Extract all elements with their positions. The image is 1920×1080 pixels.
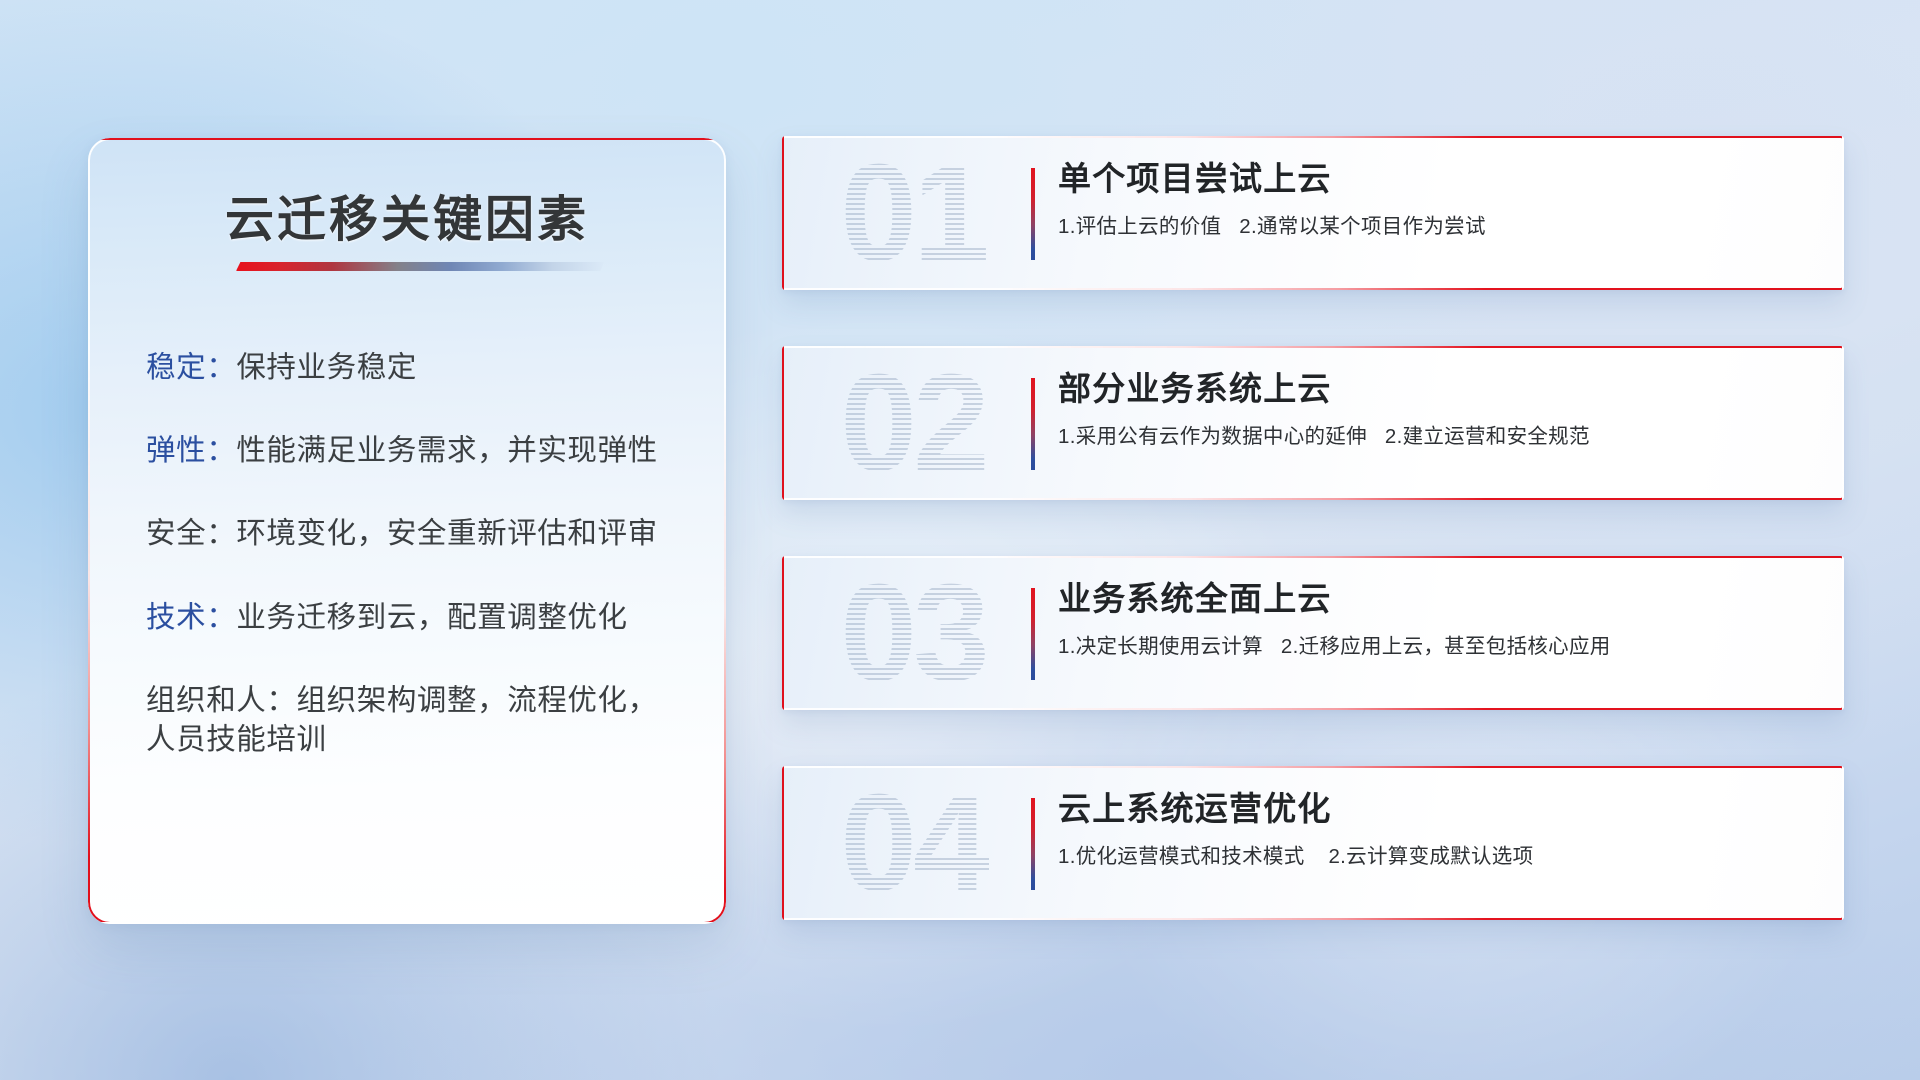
step-description: 1.评估上云的价值 2.通常以某个项目作为尝试	[1058, 214, 1804, 241]
list-item: 技术：业务迁移到云，配置调整优化	[146, 598, 674, 637]
step-title: 单个项目尝试上云	[1058, 158, 1804, 200]
list-item: 组织和人：组织架构调整，流程优化，人员技能培训	[146, 681, 674, 759]
migration-steps-list: 01 单个项目尝试上云 1.评估上云的价值 2.通常以某个项目作为尝试 02 部…	[782, 136, 1844, 976]
step-card[interactable]: 01 单个项目尝试上云 1.评估上云的价值 2.通常以某个项目作为尝试	[782, 136, 1844, 290]
title-divider	[236, 262, 604, 271]
step-card[interactable]: 03 业务系统全面上云 1.决定长期使用云计算 2.迁移应用上云，甚至包括核心应…	[782, 556, 1844, 710]
step-accent-bar	[1031, 588, 1035, 680]
step-number-watermark: 04	[808, 758, 1018, 928]
step-number-watermark: 01	[808, 128, 1018, 298]
step-card[interactable]: 04 云上系统运营优化 1.优化运营模式和技术模式 2.云计算变成默认选项	[782, 766, 1844, 920]
step-card[interactable]: 02 部分业务系统上云 1.采用公有云作为数据中心的延伸 2.建立运营和安全规范	[782, 346, 1844, 500]
step-title: 云上系统运营优化	[1058, 788, 1804, 830]
list-item-key: 安全：	[146, 517, 236, 550]
step-description: 1.决定长期使用云计算 2.迁移应用上云，甚至包括核心应用	[1058, 634, 1804, 661]
list-item: 安全：环境变化，安全重新评估和评审	[146, 514, 674, 553]
step-accent-bar	[1031, 378, 1035, 470]
step-description: 1.优化运营模式和技术模式 2.云计算变成默认选项	[1058, 844, 1804, 871]
list-item-value: 保持业务稳定	[236, 351, 417, 384]
list-item-value: 环境变化，安全重新评估和评审	[236, 517, 657, 550]
step-content: 业务系统全面上云 1.决定长期使用云计算 2.迁移应用上云，甚至包括核心应用	[1058, 578, 1804, 660]
step-title: 部分业务系统上云	[1058, 368, 1804, 410]
list-item: 弹性：性能满足业务需求，并实现弹性	[146, 431, 674, 470]
step-description: 1.采用公有云作为数据中心的延伸 2.建立运营和安全规范	[1058, 424, 1804, 451]
step-accent-bar	[1031, 168, 1035, 260]
list-item-key: 弹性：	[146, 434, 236, 467]
step-content: 单个项目尝试上云 1.评估上云的价值 2.通常以某个项目作为尝试	[1058, 158, 1804, 240]
page-title: 云迁移关键因素	[88, 180, 726, 251]
step-number-watermark: 02	[808, 338, 1018, 508]
list-item: 稳定：保持业务稳定	[146, 348, 674, 387]
key-factors-card: 云迁移关键因素 稳定：保持业务稳定 弹性：性能满足业务需求，并实现弹性 安全：环…	[88, 138, 726, 924]
step-accent-bar	[1031, 798, 1035, 890]
step-content: 云上系统运营优化 1.优化运营模式和技术模式 2.云计算变成默认选项	[1058, 788, 1804, 870]
key-factors-list: 稳定：保持业务稳定 弹性：性能满足业务需求，并实现弹性 安全：环境变化，安全重新…	[88, 348, 726, 803]
step-title: 业务系统全面上云	[1058, 578, 1804, 620]
list-item-key: 技术：	[146, 601, 236, 634]
slide-canvas: 云迁移关键因素 稳定：保持业务稳定 弹性：性能满足业务需求，并实现弹性 安全：环…	[0, 0, 1920, 1080]
list-item-value: 业务迁移到云，配置调整优化	[236, 601, 627, 634]
list-item-key: 稳定：	[146, 351, 236, 384]
list-item-key: 组织和人：	[146, 684, 297, 717]
step-content: 部分业务系统上云 1.采用公有云作为数据中心的延伸 2.建立运营和安全规范	[1058, 368, 1804, 450]
step-number-watermark: 03	[808, 548, 1018, 718]
list-item-value: 性能满足业务需求，并实现弹性	[236, 434, 657, 467]
